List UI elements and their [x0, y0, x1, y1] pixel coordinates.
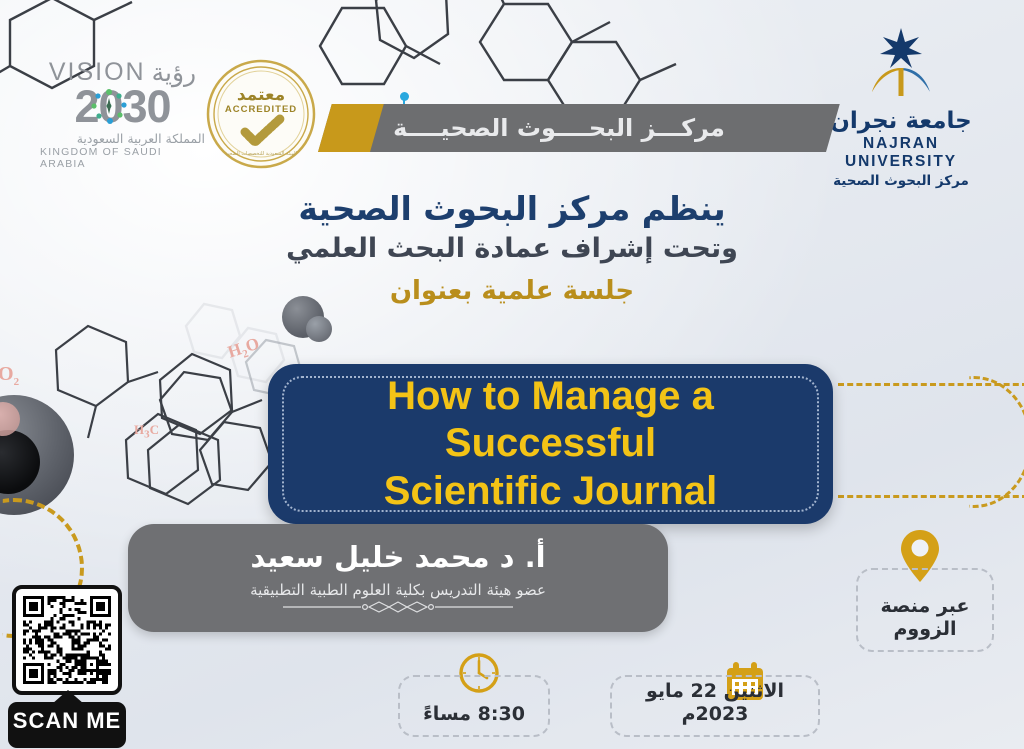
- time-label: 8:30 مساءً: [423, 703, 525, 727]
- map-pin-dot-icon: [400, 92, 409, 101]
- scan-me-label: SCAN ME: [13, 708, 121, 734]
- vision-english-kingdom: KINGDOM OF SAUDI ARABIA: [40, 146, 205, 170]
- qr-code-image[interactable]: [23, 596, 111, 684]
- accreditation-seal: معتمد ACCREDITED الهيئة السعودية للتخصصا…: [205, 58, 317, 170]
- date-label: الاثنين 22 مايو 2023م: [612, 680, 818, 728]
- vision-emblem-icon: [86, 84, 132, 130]
- chem-label-o2: O2: [0, 363, 19, 388]
- speaker-box: أ. د محمد خليل سعيد عضو هيئة التدريس بكل…: [128, 524, 668, 632]
- qr-code-box[interactable]: [12, 585, 122, 695]
- session-title-line-2: Scientific Journal: [384, 468, 717, 515]
- speaker-name: أ. د محمد خليل سعيد: [250, 540, 545, 575]
- speaker-ornament-divider: [283, 601, 513, 616]
- platform-label-line-1: عبر منصة: [881, 595, 970, 619]
- vision-2030-logo: VISION رؤية 2030 المملكة ال: [40, 58, 205, 168]
- speaker-role: عضو هيئة التدريس بكلية العلوم الطبية الت…: [250, 581, 546, 599]
- heading-line-1: ينظم مركز البحوث الصحية: [0, 188, 1024, 231]
- najran-university-logo: جامعة نجران NAJRAN UNIVERSITY مركز البحو…: [806, 22, 996, 162]
- chem-label-h2o: H2O: [225, 334, 262, 365]
- session-title-text: How to Manage a Successful Scientific Jo…: [268, 364, 833, 524]
- accredited-english-text: ACCREDITED: [225, 104, 297, 115]
- najran-english-name: NAJRAN UNIVERSITY: [806, 135, 996, 171]
- heading-line-2: وتحت إشراف عمادة البحث العلمي: [0, 231, 1024, 267]
- banner-text: مركـــز البحــــوث الصحيــــة: [318, 104, 826, 152]
- najran-center-name: مركز البحوث الصحية: [806, 173, 996, 189]
- heading-line-3: جلسة علمية بعنوان: [0, 276, 1024, 306]
- session-title-line-1: How to Manage a Successful: [292, 373, 809, 467]
- svg-text:الهيئة السعودية للتخصصات الصحي: الهيئة السعودية للتخصصات الصحية: [225, 151, 297, 157]
- platform-label: عبر منصة الزووم: [881, 595, 970, 643]
- dashed-gold-circle-decoration: [916, 376, 1024, 508]
- scan-me-banner: SCAN ME: [8, 702, 126, 748]
- date-chip: الاثنين 22 مايو 2023م: [610, 675, 820, 737]
- najran-emblem-icon: [806, 22, 996, 104]
- session-title-box: How to Manage a Successful Scientific Jo…: [268, 364, 833, 524]
- molecule-sphere-gray-small: [306, 316, 332, 342]
- ornament-icon: [283, 601, 513, 613]
- chem-label-h3c: H3C: [134, 422, 159, 441]
- poster-canvas: H2O O2 H3C VISION رؤية 2030: [0, 0, 1024, 749]
- time-chip: 8:30 مساءً: [398, 675, 550, 737]
- platform-chip: عبر منصة الزووم: [856, 568, 994, 652]
- platform-label-line-2: الزووم: [881, 618, 970, 642]
- molecule-decoration-top-center: [280, 0, 540, 118]
- heading-group: ينظم مركز البحوث الصحية وتحت إشراف عمادة…: [0, 188, 1024, 306]
- accredited-arabic-text: معتمد: [237, 85, 285, 105]
- header-banner: مركـــز البحــــوث الصحيــــة: [318, 104, 826, 152]
- vision-arabic-kingdom: المملكة العربية السعودية: [40, 131, 205, 146]
